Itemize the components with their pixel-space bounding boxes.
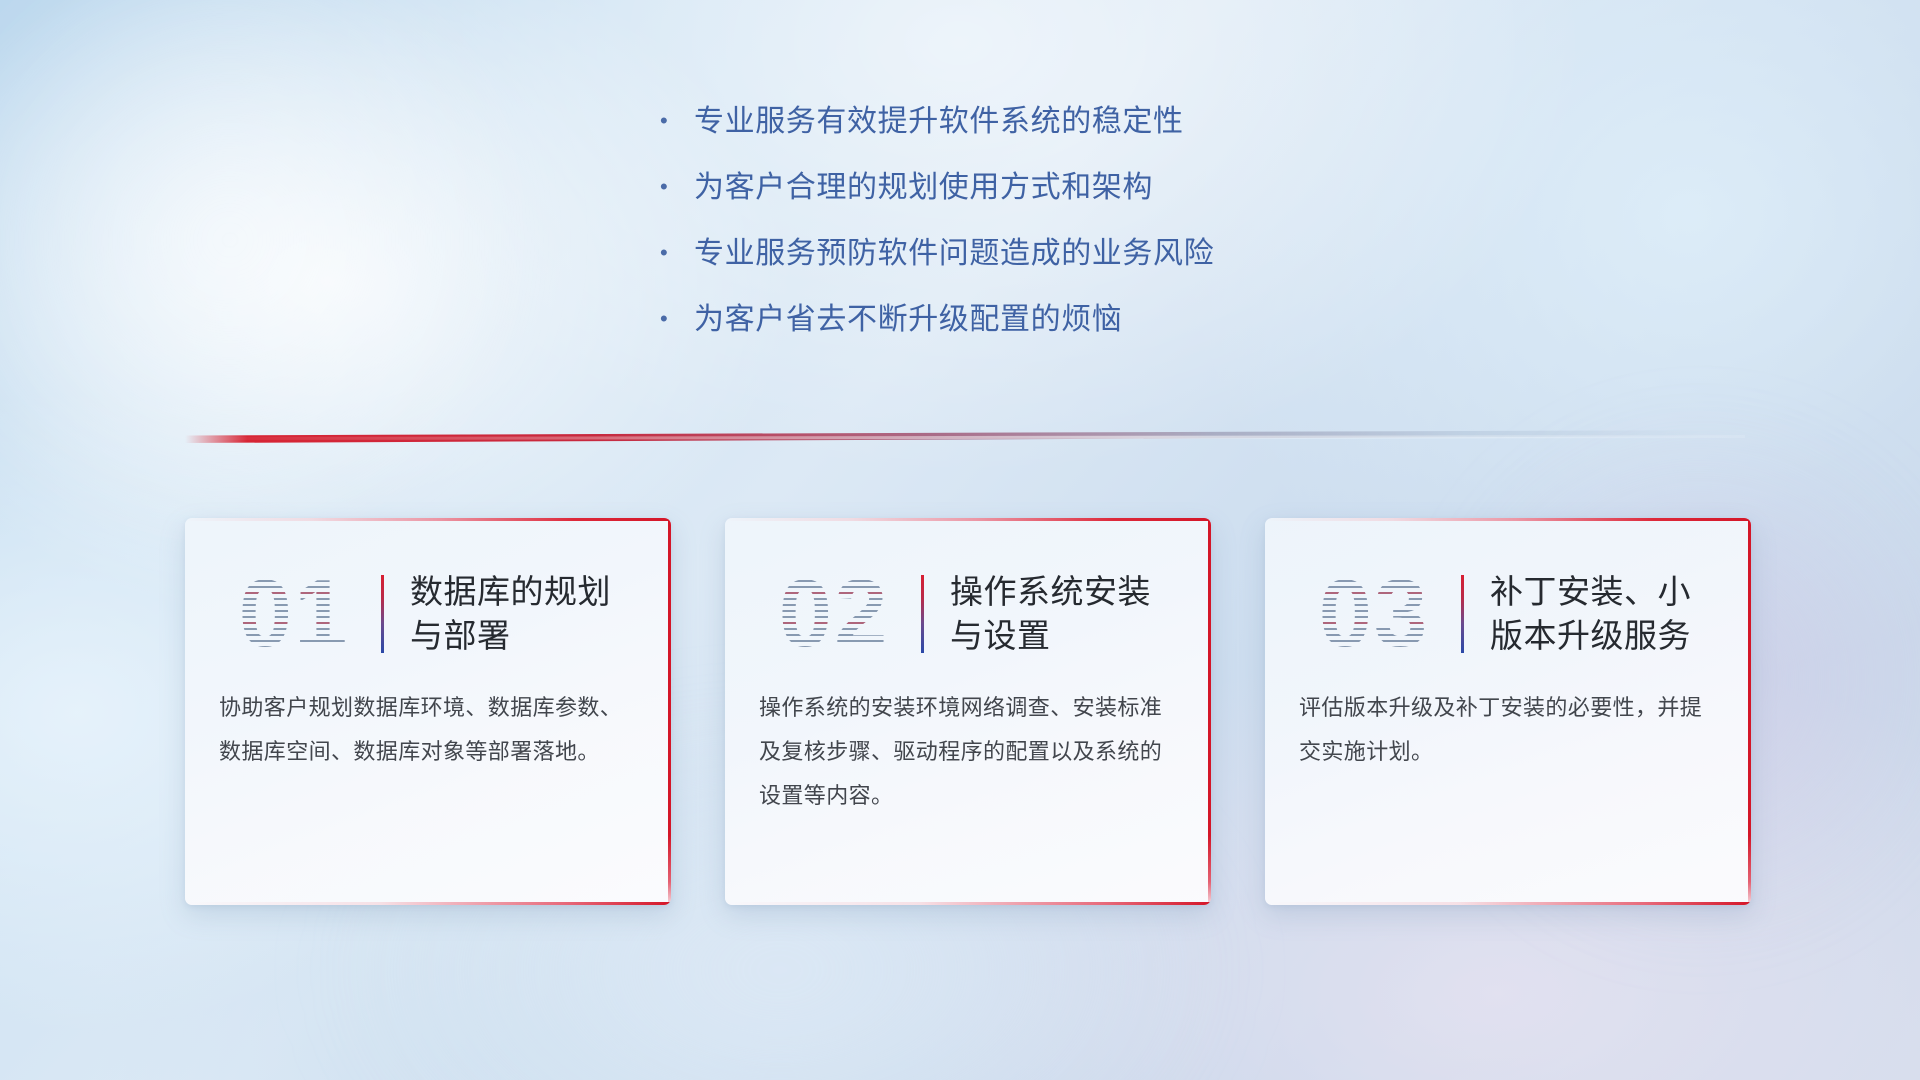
card-right-accent	[1208, 518, 1211, 905]
bullet-text: 专业服务有效提升软件系统的稳定性	[694, 104, 1184, 140]
card-title-divider-icon	[1461, 575, 1464, 653]
card-top-accent	[1265, 518, 1751, 521]
card-title: 补丁安装、小版本升级服务	[1490, 570, 1721, 657]
card-right-accent	[1748, 518, 1751, 905]
card-description: 操作系统的安装环境网络调查、安装标准及复核步骤、驱动程序的配置以及系统的设置等内…	[725, 668, 1211, 818]
bullet-text: 为客户省去不断升级配置的烦恼	[694, 302, 1122, 338]
bullet-list: • 专业服务有效提升软件系统的稳定性 • 为客户合理的规划使用方式和架构 • 专…	[660, 104, 1214, 338]
bullet-point-icon: •	[660, 176, 694, 198]
background-glow-left	[0, 0, 580, 540]
card-number: 02	[759, 562, 909, 666]
card-header: 01 数据库的规划与部署	[185, 518, 671, 668]
bullet-point-icon: •	[660, 308, 694, 330]
info-card-03[interactable]: 03 补丁安装、小版本升级服务 评估版本升级及补丁安装的必要性，并提交实施计划。	[1265, 518, 1751, 905]
bullet-point-icon: •	[660, 110, 694, 132]
bullet-point-icon: •	[660, 242, 694, 264]
bullet-text: 专业服务预防软件问题造成的业务风险	[694, 236, 1214, 272]
card-title: 数据库的规划与部署	[410, 570, 641, 657]
card-bottom-accent	[1265, 902, 1751, 905]
list-item: • 为客户省去不断升级配置的烦恼	[660, 302, 1214, 338]
list-item: • 专业服务有效提升软件系统的稳定性	[660, 104, 1214, 140]
card-header: 02 操作系统安装与设置	[725, 518, 1211, 668]
card-title: 操作系统安装与设置	[950, 570, 1181, 657]
card-top-accent	[725, 518, 1211, 521]
list-item: • 为客户合理的规划使用方式和架构	[660, 170, 1214, 206]
card-description: 协助客户规划数据库环境、数据库参数、数据库空间、数据库对象等部署落地。	[185, 668, 671, 774]
card-right-accent	[668, 518, 671, 905]
list-item: • 专业服务预防软件问题造成的业务风险	[660, 236, 1214, 272]
card-bottom-accent	[725, 902, 1211, 905]
card-title-divider-icon	[921, 575, 924, 653]
bullet-text: 为客户合理的规划使用方式和架构	[694, 170, 1153, 206]
card-number: 03	[1299, 562, 1449, 666]
card-top-accent	[185, 518, 671, 521]
card-description: 评估版本升级及补丁安装的必要性，并提交实施计划。	[1265, 668, 1751, 774]
card-group: 01 数据库的规划与部署 协助客户规划数据库环境、数据库参数、数据库空间、数据库…	[185, 518, 1751, 905]
card-title-divider-icon	[381, 575, 384, 653]
card-bottom-accent	[185, 902, 671, 905]
info-card-01[interactable]: 01 数据库的规划与部署 协助客户规划数据库环境、数据库参数、数据库空间、数据库…	[185, 518, 671, 905]
card-header: 03 补丁安装、小版本升级服务	[1265, 518, 1751, 668]
accent-divider	[185, 430, 1745, 443]
info-card-02[interactable]: 02 操作系统安装与设置 操作系统的安装环境网络调查、安装标准及复核步骤、驱动程…	[725, 518, 1211, 905]
card-number: 01	[219, 562, 369, 666]
